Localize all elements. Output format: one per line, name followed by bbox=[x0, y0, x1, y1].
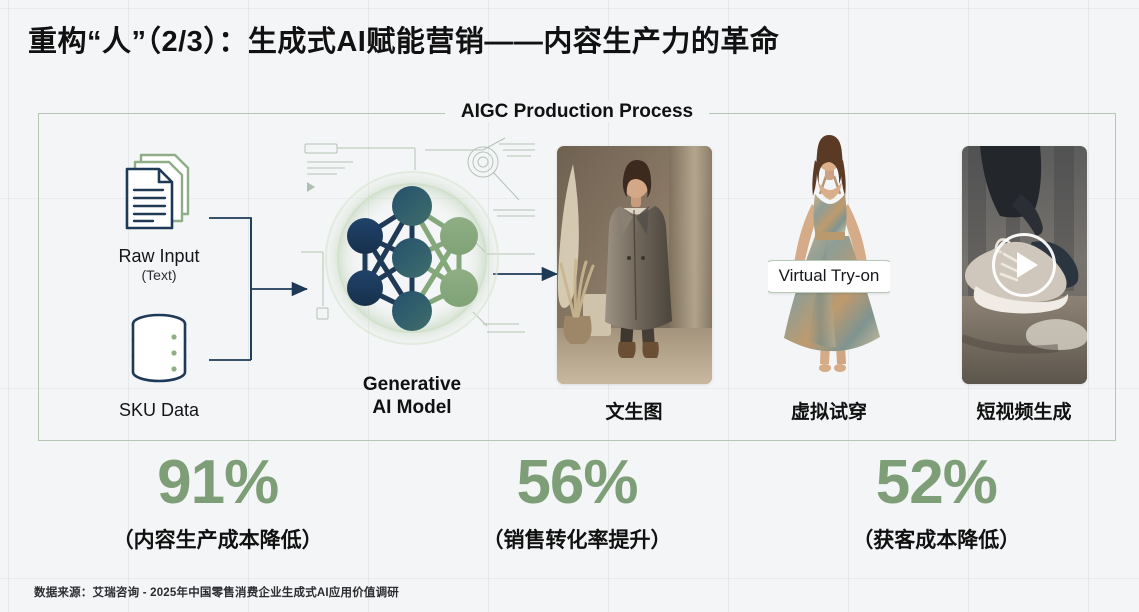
database-icon bbox=[119, 311, 199, 387]
output-card-text-to-image[interactable]: 文生图 bbox=[534, 146, 734, 424]
source-note: 数据来源：艾瑞咨询 - 2025年中国零售消费企业生成式AI应用价值调研 bbox=[34, 584, 399, 600]
stat-item: 52% （获客成本降低） bbox=[757, 452, 1116, 567]
output-card-short-video[interactable]: 短视频生成 bbox=[924, 146, 1124, 424]
documents-icon bbox=[113, 149, 205, 235]
statistics-row: 91% （内容生产成本降低） 56% （销售转化率提升） 52% （获客成本降低… bbox=[38, 452, 1116, 567]
model-caption-line2: AI Model bbox=[287, 396, 537, 420]
stat-value: 91% bbox=[38, 452, 397, 514]
neural-network-icon bbox=[287, 136, 537, 386]
stat-label: （内容生产成本降低） bbox=[38, 524, 397, 554]
stat-value: 52% bbox=[757, 452, 1116, 514]
input-node-raw-input: Raw Input (Text) bbox=[85, 149, 233, 283]
virtual-tryon-label[interactable]: Virtual Try-on bbox=[768, 260, 890, 293]
title-bar: 重构“人”（2/3）：生成式AI赋能营销——内容生产力的革命 bbox=[0, 0, 1139, 78]
woman-in-floral-dress-cutout bbox=[768, 132, 890, 384]
stat-label: （销售转化率提升） bbox=[397, 524, 756, 554]
generative-ai-model-node: Generative AI Model bbox=[287, 136, 537, 426]
stat-item: 56% （销售转化率提升） bbox=[397, 452, 756, 567]
input-node-label: Raw Input bbox=[85, 246, 233, 267]
page-title: 重构“人”（2/3）：生成式AI赋能营销——内容生产力的革命 bbox=[28, 18, 779, 60]
aigc-process-panel: AIGC Production Process bbox=[38, 113, 1116, 441]
play-icon[interactable] bbox=[992, 233, 1056, 297]
output-caption: 虚拟试穿 bbox=[729, 397, 929, 424]
output-caption: 文生图 bbox=[534, 397, 734, 424]
short-video-thumbnail[interactable] bbox=[962, 146, 1087, 384]
stat-item: 91% （内容生产成本降低） bbox=[38, 452, 397, 567]
input-node-sublabel: (Text) bbox=[85, 267, 233, 283]
input-node-sku-data: SKU Data bbox=[85, 311, 233, 421]
virtual-tryon-thumbnail[interactable]: Virtual Try-on bbox=[768, 132, 890, 384]
model-caption-line1: Generative bbox=[287, 373, 537, 397]
stat-value: 56% bbox=[397, 452, 756, 514]
input-node-label: SKU Data bbox=[85, 400, 233, 421]
model-caption: Generative AI Model bbox=[287, 373, 537, 421]
woman-in-trench-coat-photo bbox=[557, 146, 712, 384]
output-card-virtual-tryon[interactable]: Virtual Try-on 虚拟试穿 bbox=[729, 132, 929, 424]
text-to-image-thumbnail[interactable] bbox=[557, 146, 712, 384]
stat-label: （获客成本降低） bbox=[757, 524, 1116, 554]
output-caption: 短视频生成 bbox=[924, 397, 1124, 424]
